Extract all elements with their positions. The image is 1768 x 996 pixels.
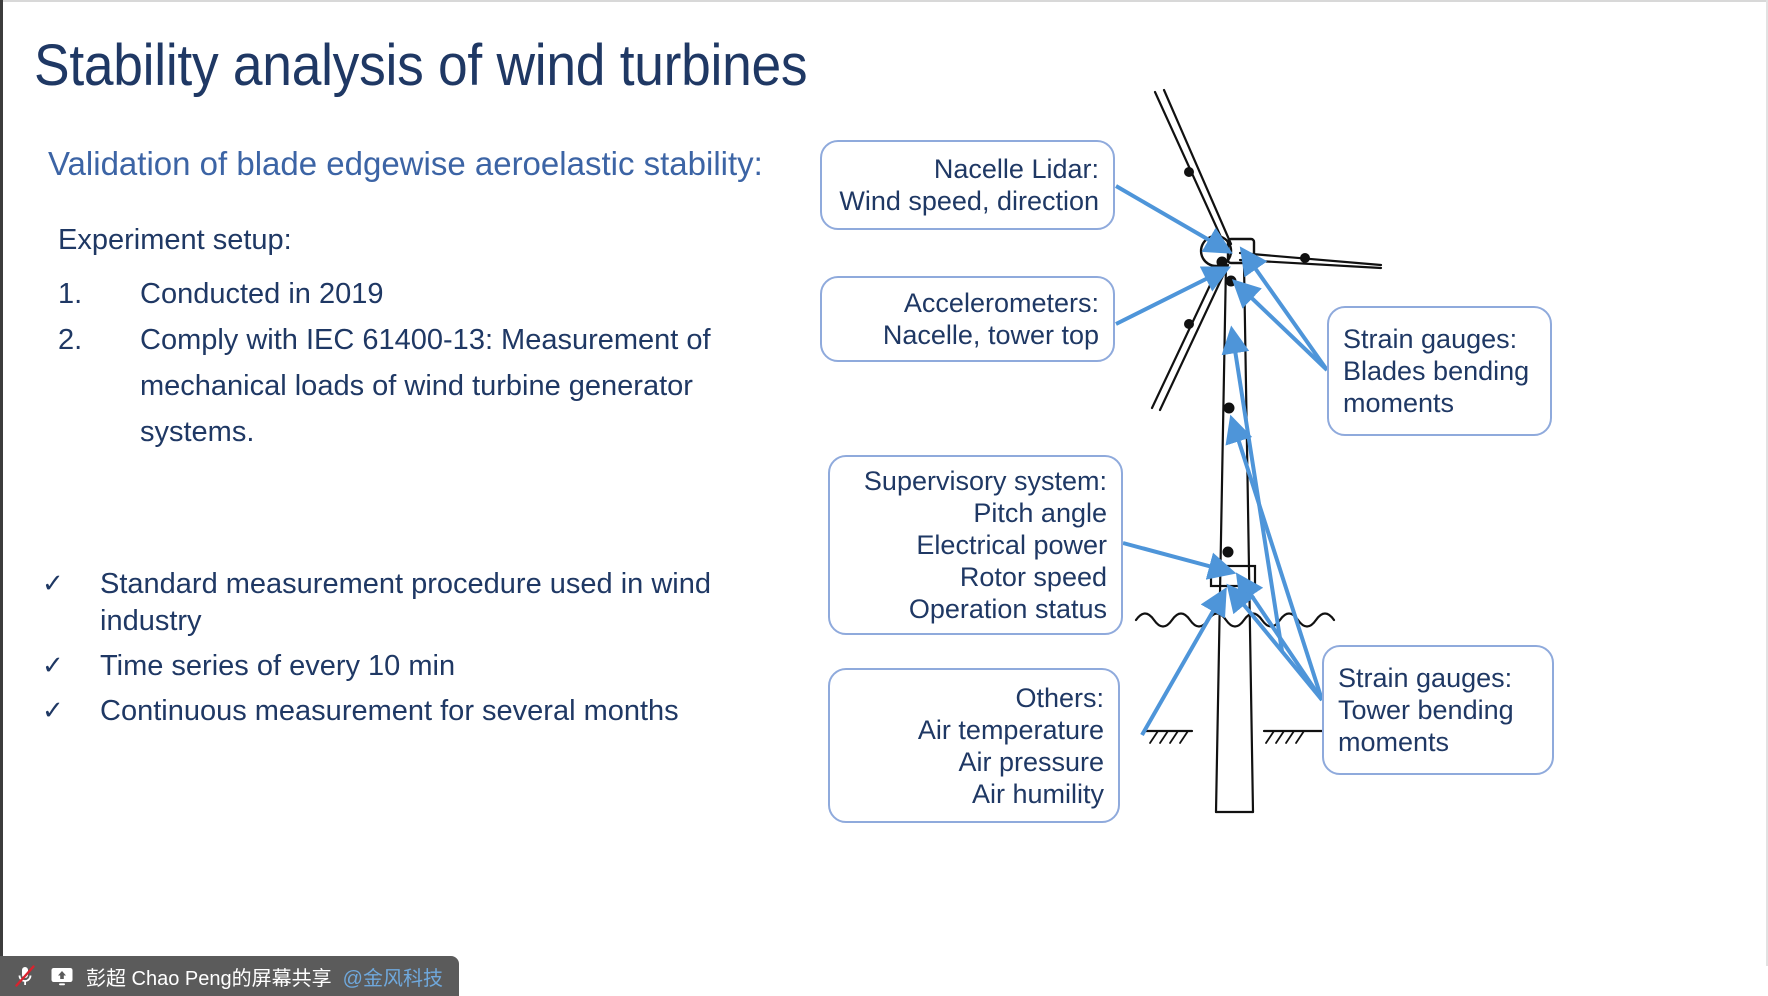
arrow-blade-sg-a	[1243, 251, 1327, 370]
seabed-hatch	[1150, 731, 1188, 743]
callout-others: Others: Air temperature Air pressure Air…	[828, 668, 1120, 823]
list-item-text: Standard measurement procedure used in w…	[100, 568, 711, 637]
callout-line: Electrical power	[916, 529, 1107, 561]
experiment-setup-heading: Experiment setup:	[58, 224, 292, 257]
callout-line: moments	[1338, 726, 1449, 758]
sensor-dot	[1185, 168, 1194, 177]
callout-line: Blades bending	[1343, 355, 1529, 387]
callout-supervisory-system: Supervisory system: Pitch angle Electric…	[828, 455, 1123, 635]
arrow-supervisory	[1123, 543, 1231, 572]
blade-right	[1240, 253, 1381, 268]
callout-line: Pitch angle	[973, 497, 1107, 529]
callout-line: Nacelle Lidar:	[934, 153, 1099, 185]
presenter-label: 彭超 Chao Peng的屏幕共享	[86, 962, 332, 991]
callout-accelerometers: Accelerometers: Nacelle, tower top	[820, 276, 1115, 362]
numbered-list: 1. Conducted in 2019 2. Comply with IEC …	[58, 271, 778, 455]
arrow-tower-sg-c	[1232, 420, 1322, 700]
callout-line: Others:	[1015, 682, 1104, 714]
callout-line: Accelerometers:	[904, 287, 1099, 319]
arrow-tower-sg-b	[1230, 588, 1322, 700]
callout-line: Supervisory system:	[864, 465, 1107, 497]
callout-line: Wind speed, direction	[839, 185, 1099, 217]
list-item-number: 1.	[58, 271, 98, 317]
nacelle	[1201, 236, 1254, 266]
tower-dot	[1224, 403, 1234, 413]
callout-line: Strain gauges:	[1338, 662, 1512, 694]
callout-line: Strain gauges:	[1343, 323, 1517, 355]
nacelle-dot	[1226, 276, 1236, 286]
callout-line: Nacelle, tower top	[883, 319, 1099, 351]
blade-lower-left	[1152, 262, 1228, 410]
list-item-text: Conducted in 2019	[140, 278, 383, 310]
microphone-muted-icon[interactable]	[12, 963, 38, 989]
blade-upper	[1155, 90, 1231, 246]
screen-share-icon[interactable]	[49, 963, 75, 989]
window-top-edge	[0, 0, 1768, 2]
water-line	[1136, 614, 1334, 627]
callout-line: Air pressure	[958, 746, 1104, 778]
page-title: Stability analysis of wind turbines	[34, 34, 807, 98]
arrow-accelerometers	[1116, 269, 1226, 324]
callout-line: Air humility	[972, 778, 1104, 810]
callout-tower-strain-gauges: Strain gauges: Tower bending moments	[1322, 645, 1554, 775]
callout-line: Rotor speed	[960, 561, 1107, 593]
callout-line: Tower bending	[1338, 694, 1514, 726]
arrow-tower-sg-a	[1239, 577, 1322, 700]
hub-dot	[1217, 257, 1227, 267]
arrow-others	[1142, 592, 1224, 735]
list-item-text: Comply with IEC 61400-13: Measurement of…	[140, 324, 711, 448]
callout-nacelle-lidar: Nacelle Lidar: Wind speed, direction	[820, 140, 1115, 230]
list-item-number: 2.	[58, 317, 98, 363]
checklist: ✓ Standard measurement procedure used in…	[38, 566, 798, 738]
tower-strain-gauge-box	[1211, 566, 1255, 586]
arrow-blade-sg-b	[1236, 283, 1327, 370]
sensor-dot	[1301, 254, 1310, 263]
callout-line: Air temperature	[918, 714, 1104, 746]
callout-line: Operation status	[909, 593, 1107, 625]
check-icon: ✓	[42, 647, 64, 684]
list-item-text: Time series of every 10 min	[100, 650, 455, 682]
list-item: 2. Comply with IEC 61400-13: Measurement…	[58, 317, 778, 455]
callout-line: moments	[1343, 387, 1454, 419]
seabed-hatch-right	[1266, 731, 1304, 743]
check-icon: ✓	[42, 692, 64, 729]
screen-share-status-bar[interactable]: 彭超 Chao Peng的屏幕共享 @金风科技	[0, 956, 459, 996]
list-item: 1. Conducted in 2019	[58, 271, 778, 317]
list-item-text: Continuous measurement for several month…	[100, 695, 679, 727]
window-left-edge	[0, 0, 3, 966]
slide-canvas: Stability analysis of wind turbines Vali…	[0, 0, 1768, 996]
sensor-dot	[1185, 320, 1194, 329]
tower-dot	[1223, 547, 1233, 557]
list-item: ✓ Continuous measurement for several mon…	[38, 693, 798, 730]
organization-label: @金风科技	[343, 962, 443, 991]
arrow-blade-sg-c	[1232, 331, 1282, 651]
tower	[1216, 264, 1253, 812]
slide-subtitle: Validation of blade edgewise aeroelastic…	[48, 145, 763, 183]
list-item: ✓ Time series of every 10 min	[38, 648, 798, 685]
callout-blade-strain-gauges: Strain gauges: Blades bending moments	[1327, 306, 1552, 436]
arrow-lidar	[1116, 186, 1228, 251]
check-icon: ✓	[42, 565, 64, 602]
list-item: ✓ Standard measurement procedure used in…	[38, 566, 798, 640]
